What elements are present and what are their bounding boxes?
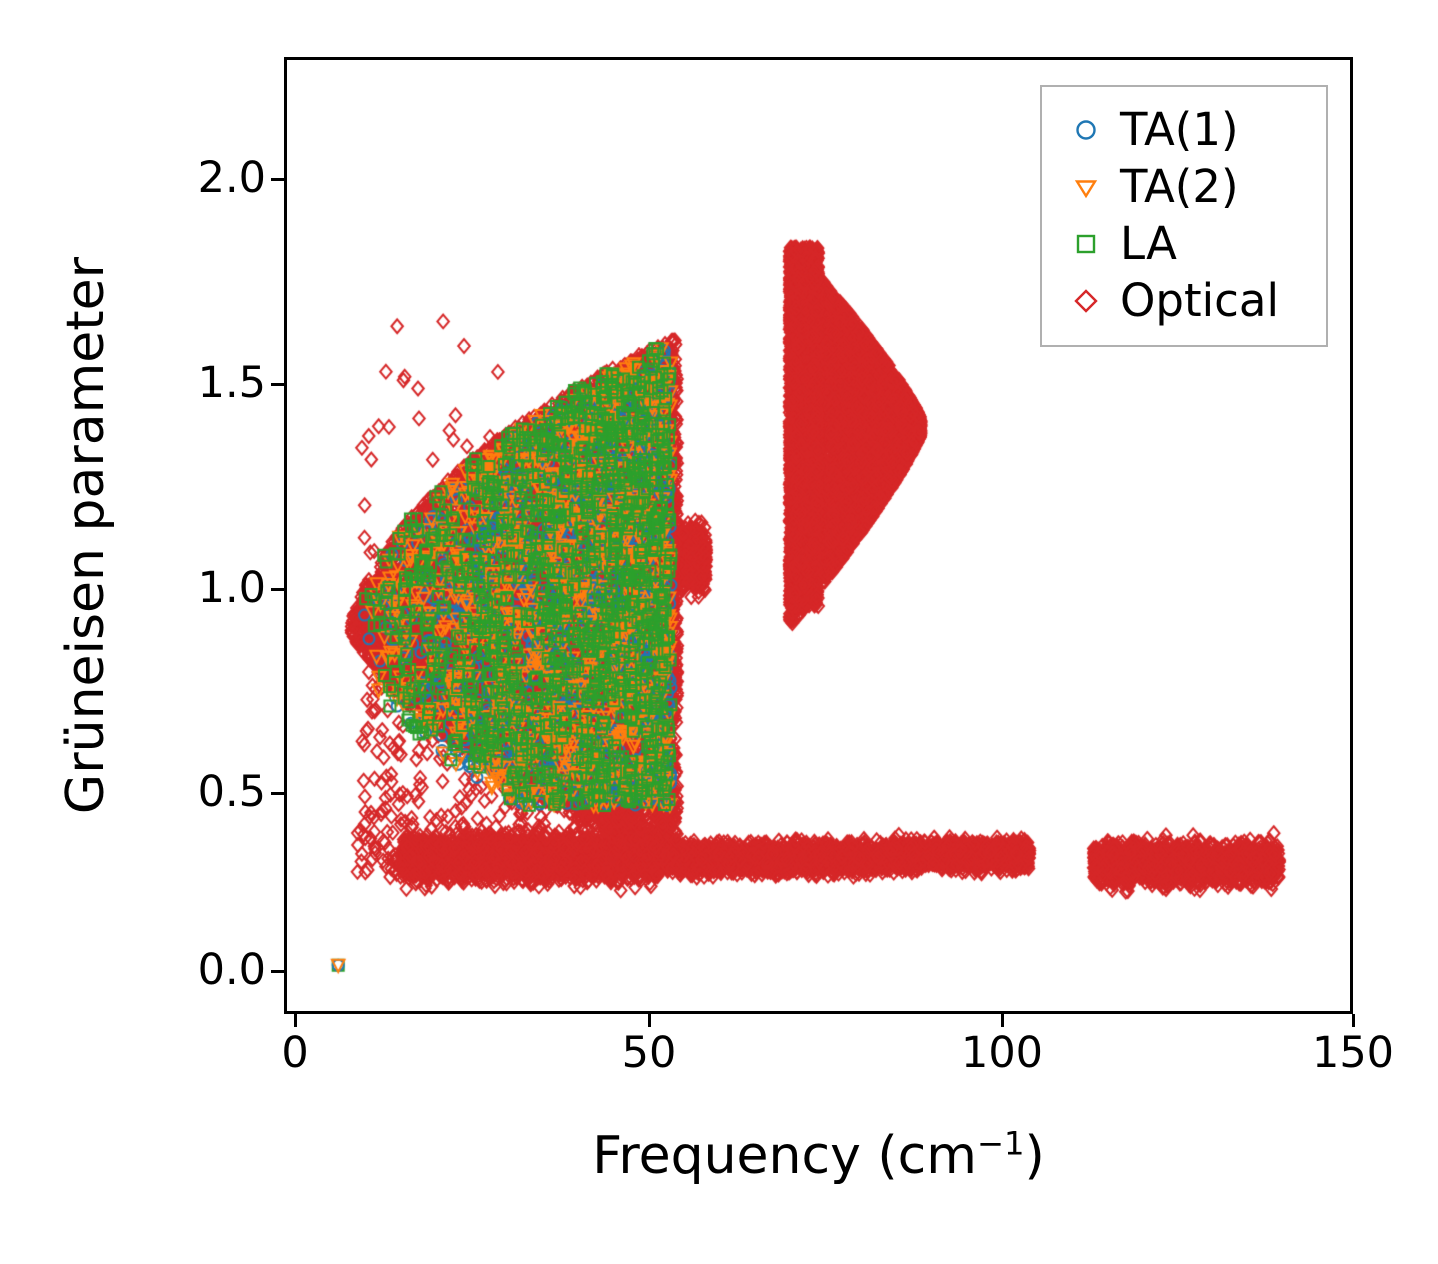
y-tick-label: 2.0 <box>198 157 266 200</box>
y-axis-label: Grüneisen parameter <box>56 57 116 1014</box>
diamond-marker-icon <box>1058 286 1114 316</box>
legend: TA(1) TA(2) LA Optical <box>1040 85 1328 347</box>
y-tick-label: 1.5 <box>198 362 266 405</box>
legend-label-optical: Optical <box>1114 278 1279 323</box>
x-axis-label: Frequency (cm−1) <box>284 1126 1353 1186</box>
square-marker-icon <box>1058 229 1114 259</box>
x-axis-label-exponent: −1 <box>977 1125 1025 1163</box>
legend-label-ta1: TA(1) <box>1114 107 1239 152</box>
legend-label-la: LA <box>1114 221 1177 266</box>
legend-item-ta1: TA(1) <box>1058 101 1310 158</box>
y-tick-label: 1.0 <box>198 567 266 610</box>
legend-item-la: LA <box>1058 215 1310 272</box>
circle-marker-icon <box>1058 115 1114 145</box>
x-tick-mark <box>1001 1014 1004 1027</box>
y-tick-label: 0.0 <box>198 949 266 992</box>
x-tick-label: 50 <box>622 1032 677 1075</box>
x-tick-mark <box>648 1014 651 1027</box>
x-tick-label: 100 <box>961 1032 1043 1075</box>
y-tick-mark <box>271 792 284 795</box>
y-tick-mark <box>271 178 284 181</box>
x-tick-label: 150 <box>1312 1032 1394 1075</box>
y-tick-mark <box>271 970 284 973</box>
legend-item-optical: Optical <box>1058 272 1310 329</box>
x-axis-label-tail: ) <box>1024 1126 1044 1186</box>
figure-canvas: 2.0 1.5 1.0 0.5 0.0 0 50 100 150 Frequen… <box>0 0 1438 1264</box>
x-tick-mark <box>294 1014 297 1027</box>
legend-item-ta2: TA(2) <box>1058 158 1310 215</box>
x-tick-mark <box>1352 1014 1355 1027</box>
legend-label-ta2: TA(2) <box>1114 164 1239 209</box>
x-tick-label: 0 <box>281 1032 308 1075</box>
triangle-down-marker-icon <box>1058 172 1114 202</box>
y-tick-mark <box>271 383 284 386</box>
y-tick-label: 0.5 <box>198 771 266 814</box>
y-tick-mark <box>271 588 284 591</box>
x-axis-label-text: Frequency (cm <box>592 1126 977 1186</box>
